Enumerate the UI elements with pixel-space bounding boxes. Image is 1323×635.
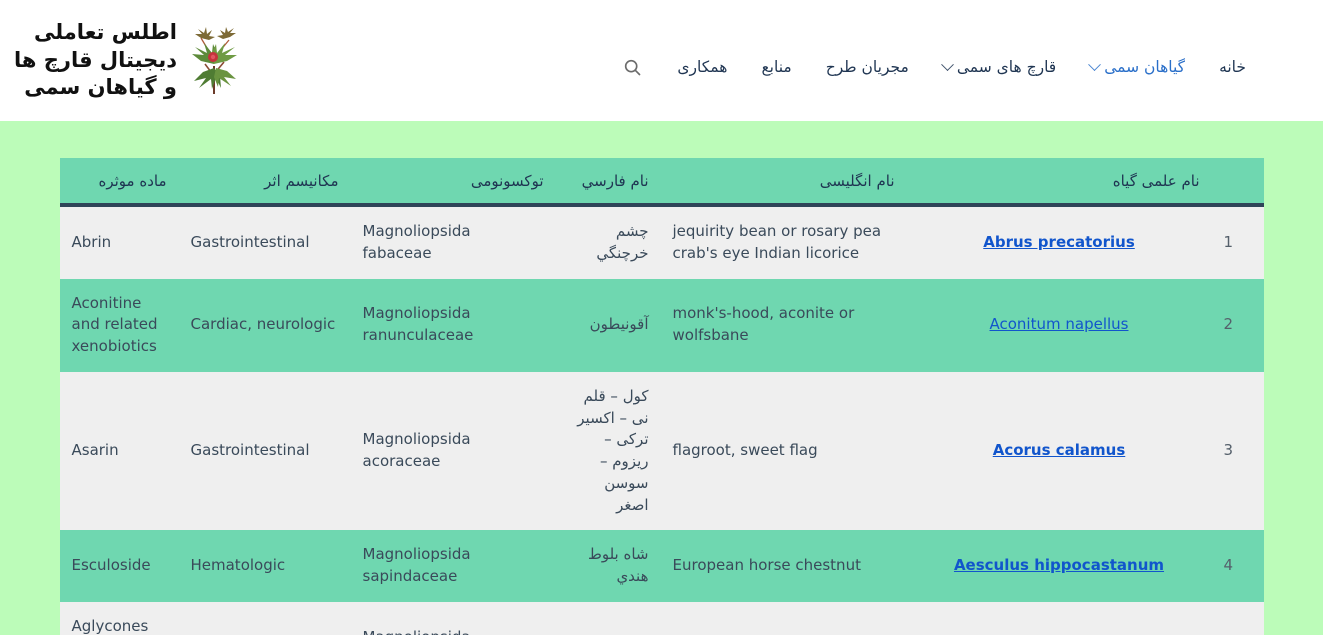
column-header-mechanism: مکانیسم اثر bbox=[179, 158, 351, 205]
cell-taxonomy: Magnoliopsida sapindaceae bbox=[351, 530, 556, 602]
cell-substance: Aglycones Smilagenin Sarsasapogenin bbox=[60, 602, 179, 635]
row-index: 4 bbox=[1212, 530, 1264, 602]
cell-scientific-name: Abrus precatorius bbox=[907, 205, 1212, 279]
row-index: 1 bbox=[1212, 205, 1264, 279]
cell-substance-text: Abrin bbox=[72, 232, 167, 254]
cell-taxonomy: Magnoliopsida fabaceae bbox=[351, 205, 556, 279]
cell-mechanism: dermatitis bbox=[179, 602, 351, 635]
cell-mechanism: Gastrointestinal bbox=[179, 372, 351, 531]
cell-english-text: monk's-hood, aconite or wolfsbane bbox=[673, 303, 895, 347]
scientific-name-link[interactable]: Aconitum napellus bbox=[990, 315, 1129, 333]
nav-label: گیاهان سمی bbox=[1104, 60, 1185, 76]
table-row: 2Aconitum napellusmonk's-hood, aconite o… bbox=[60, 279, 1264, 372]
cell-english: monk's-hood, aconite or wolfsbane bbox=[661, 279, 907, 372]
row-index: 5 bbox=[1212, 602, 1264, 635]
cell-mechanism-text: Gastrointestinal bbox=[191, 440, 339, 462]
cell-mechanism: Cardiac, neurologic bbox=[179, 279, 351, 372]
scientific-name-link[interactable]: Aesculus hippocastanum bbox=[954, 556, 1164, 574]
nav-item-poisonous-plants[interactable]: گیاهان سمی bbox=[1073, 54, 1202, 82]
nav-label: منابع bbox=[761, 60, 791, 76]
table-body: 1Abrus precatoriusjequirity bean or rosa… bbox=[60, 205, 1264, 635]
cell-taxonomy: Magnoliopsida acoraceae bbox=[351, 372, 556, 531]
cell-mechanism-text: Gastrointestinal bbox=[191, 232, 339, 254]
cell-mechanism: Hematologic bbox=[179, 530, 351, 602]
cell-english-text: flagroot, sweet flag bbox=[673, 440, 895, 462]
cell-scientific-name: Aconitum napellus bbox=[907, 279, 1212, 372]
cell-persian: آگاو bbox=[556, 602, 661, 635]
table-row: 1Abrus precatoriusjequirity bean or rosa… bbox=[60, 205, 1264, 279]
cell-scientific-name: Acorus calamus bbox=[907, 372, 1212, 531]
row-index: 3 bbox=[1212, 372, 1264, 531]
column-header-index bbox=[1212, 158, 1264, 205]
cell-mechanism-text: Hematologic bbox=[191, 555, 339, 577]
cell-mechanism: Gastrointestinal bbox=[179, 205, 351, 279]
cell-substance: Aconitine and related xenobiotics bbox=[60, 279, 179, 372]
cell-taxonomy: Magnoliopsida asparagaceae bbox=[351, 602, 556, 635]
cell-english: flagroot, sweet flag bbox=[661, 372, 907, 531]
cell-persian: آقونیطون bbox=[556, 279, 661, 372]
cell-taxonomy-text: Magnoliopsida acoraceae bbox=[363, 429, 544, 473]
cell-substance-text: Aglycones Smilagenin Sarsasapogenin bbox=[72, 616, 167, 635]
table-row: 3 Acorus calamusflagroot, sweet flagکول … bbox=[60, 372, 1264, 531]
cell-taxonomy-text: Magnoliopsida sapindaceae bbox=[363, 544, 544, 588]
cell-scientific-name: Aesculus hippocastanum bbox=[907, 530, 1212, 602]
brand: اطلس تعاملی دیجیتال قارچ ها و گیاهان سمی bbox=[0, 5, 255, 116]
main-nav: خانه گیاهان سمی قارچ های سمی مجریان طرح … bbox=[614, 36, 1263, 86]
cell-persian: چشم خرچنگي bbox=[556, 205, 661, 279]
table-row: 4Aesculus hippocastanum European horse c… bbox=[60, 530, 1264, 602]
cell-persian: کول – قلم نی – اکسیر ترکی – ریزوم – سوسن… bbox=[556, 372, 661, 531]
chevron-down-icon bbox=[1088, 58, 1101, 71]
row-index-text: 2 bbox=[1224, 315, 1234, 333]
column-header-persian: نام فارسي bbox=[556, 158, 661, 205]
cell-mechanism-text: Cardiac, neurologic bbox=[191, 314, 339, 336]
column-header-substance: ماده موثره bbox=[60, 158, 179, 205]
nav-label: قارچ های سمی bbox=[957, 60, 1056, 76]
column-header-scientific: نام علمی گیاه bbox=[907, 158, 1212, 205]
poisonous-plants-table: نام علمی گیاه نام انگلیسی نام فارسي توکس… bbox=[60, 158, 1264, 635]
nav-label: مجریان طرح bbox=[826, 60, 909, 76]
nav-label: همکاری bbox=[677, 60, 727, 76]
column-header-english: نام انگلیسی bbox=[661, 158, 907, 205]
cell-english: Agave bbox=[661, 602, 907, 635]
cell-taxonomy-text: Magnoliopsida ranunculaceae bbox=[363, 303, 544, 347]
cell-persian-text: آقونیطون bbox=[568, 314, 649, 336]
nav-item-home[interactable]: خانه bbox=[1202, 54, 1263, 82]
cell-english-text: jequirity bean or rosary pea crab's eye … bbox=[673, 221, 895, 265]
row-index-text: 4 bbox=[1224, 556, 1234, 574]
nav-item-poisonous-mushrooms[interactable]: قارچ های سمی bbox=[926, 54, 1073, 82]
cell-substance: Esculoside bbox=[60, 530, 179, 602]
page-title: اطلس تعاملی دیجیتال قارچ ها و گیاهان سمی bbox=[14, 19, 177, 102]
table-row: 5Agave lechuguillaAgaveآگاوMagnoliopsida… bbox=[60, 602, 1264, 635]
page-body: نام علمی گیاه نام انگلیسی نام فارسي توکس… bbox=[0, 121, 1323, 635]
row-index-text: 1 bbox=[1224, 233, 1234, 251]
cell-persian-text: شاه بلوط هندي bbox=[568, 544, 649, 588]
column-header-taxonomy: توکسونومی bbox=[351, 158, 556, 205]
search-icon[interactable] bbox=[614, 50, 650, 86]
nav-item-project-team[interactable]: مجریان طرح bbox=[809, 54, 926, 82]
row-index: 2 bbox=[1212, 279, 1264, 372]
cell-english: European horse chestnut bbox=[661, 530, 907, 602]
nav-label: خانه bbox=[1219, 60, 1246, 76]
plants-table-wrap: نام علمی گیاه نام انگلیسی نام فارسي توکس… bbox=[60, 158, 1264, 635]
table-header-row: نام علمی گیاه نام انگلیسی نام فارسي توکس… bbox=[60, 158, 1264, 205]
table-head: نام علمی گیاه نام انگلیسی نام فارسي توکس… bbox=[60, 158, 1264, 205]
castor-plant-logo bbox=[183, 24, 245, 98]
cell-english-text: European horse chestnut bbox=[673, 555, 895, 577]
site-header: اطلس تعاملی دیجیتال قارچ ها و گیاهان سمی… bbox=[0, 0, 1323, 121]
nav-item-resources[interactable]: منابع bbox=[744, 54, 808, 82]
cell-substance-text: Asarin bbox=[72, 440, 167, 462]
cell-substance: Asarin bbox=[60, 372, 179, 531]
cell-scientific-name: Agave lechuguilla bbox=[907, 602, 1212, 635]
cell-substance: Abrin bbox=[60, 205, 179, 279]
cell-persian: شاه بلوط هندي bbox=[556, 530, 661, 602]
row-index-text: 3 bbox=[1224, 441, 1234, 459]
cell-taxonomy-text: Magnoliopsida asparagaceae bbox=[363, 627, 544, 635]
scientific-name-link[interactable]: Abrus precatorius bbox=[983, 233, 1135, 251]
chevron-down-icon bbox=[941, 58, 954, 71]
scientific-name-link[interactable]: Acorus calamus bbox=[993, 441, 1126, 459]
cell-persian-text: چشم خرچنگي bbox=[568, 221, 649, 265]
cell-persian-text: کول – قلم نی – اکسیر ترکی – ریزوم – سوسن… bbox=[568, 386, 649, 517]
cell-taxonomy: Magnoliopsida ranunculaceae bbox=[351, 279, 556, 372]
cell-substance-text: Aconitine and related xenobiotics bbox=[72, 293, 167, 358]
cell-taxonomy-text: Magnoliopsida fabaceae bbox=[363, 221, 544, 265]
nav-item-collaboration[interactable]: همکاری bbox=[660, 54, 744, 82]
cell-english: jequirity bean or rosary pea crab's eye … bbox=[661, 205, 907, 279]
cell-substance-text: Esculoside bbox=[72, 555, 167, 577]
